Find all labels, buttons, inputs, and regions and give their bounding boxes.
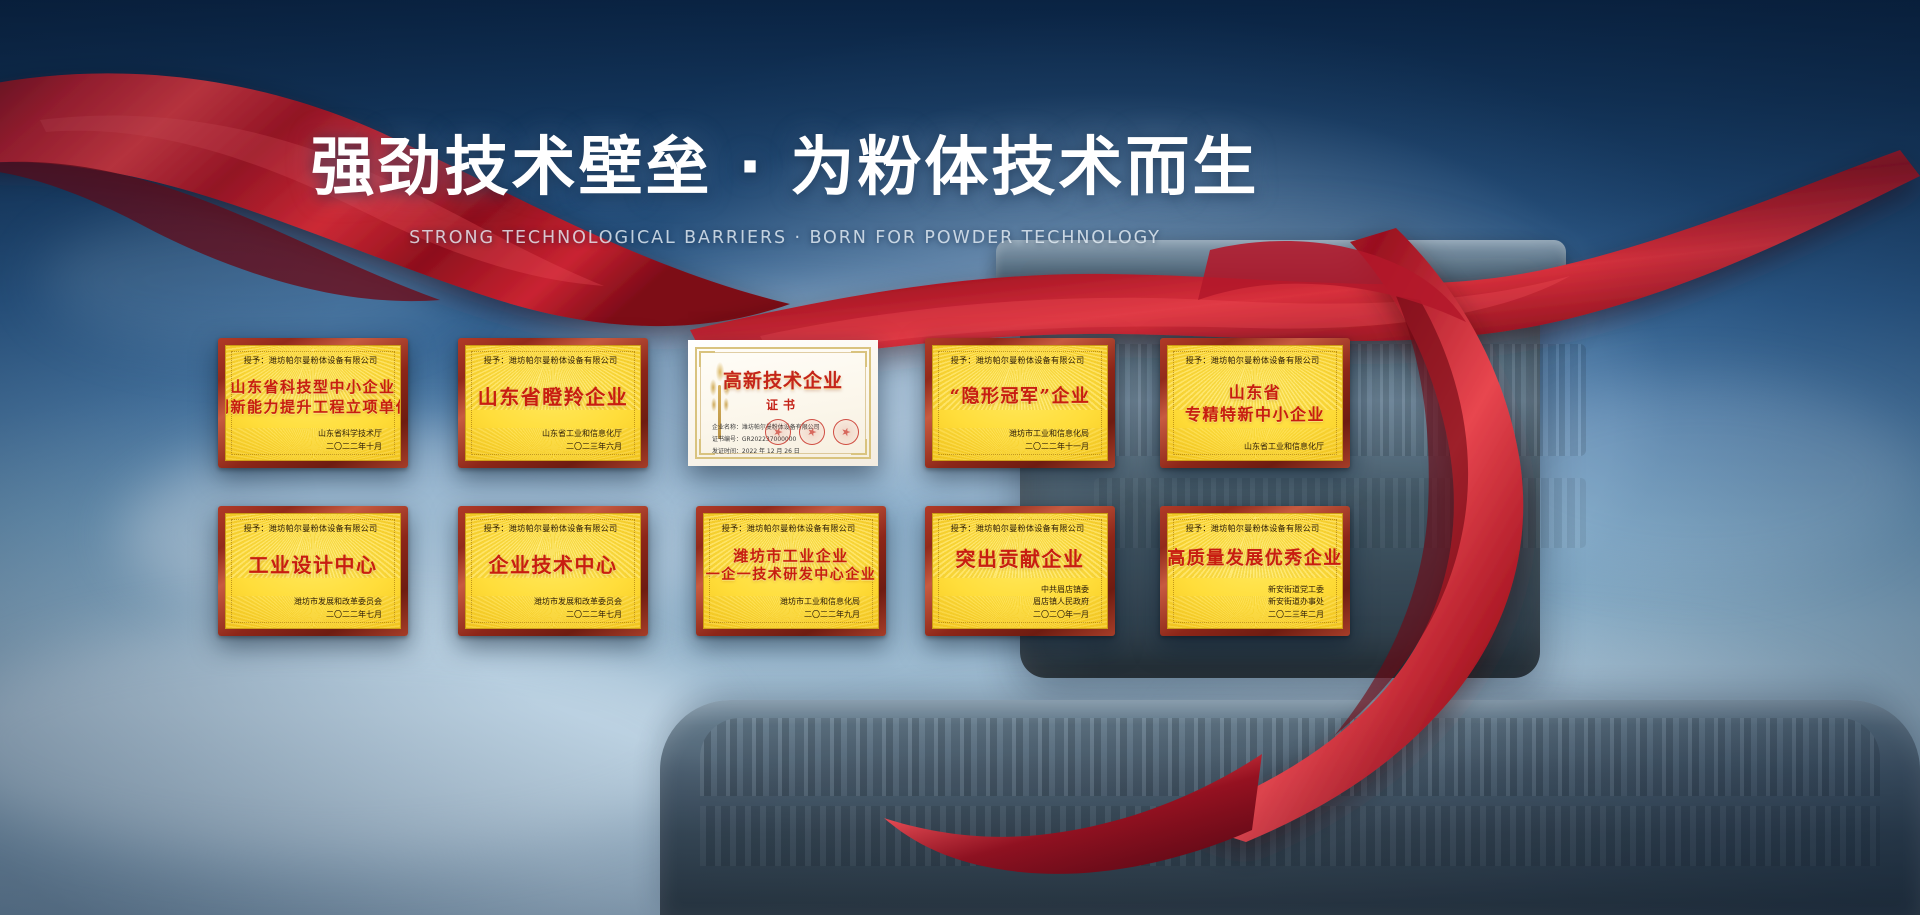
certificate-line: 发证时间：2022 年 12 月 26 日 — [712, 446, 848, 457]
plaque-title-wrap: “隐形冠军”企业 — [943, 366, 1097, 428]
plaque-title-line: 高质量发展优秀企业 — [1167, 548, 1343, 570]
plaque-title-wrap: 山东省 专精特新中小企业 — [1178, 366, 1332, 441]
plaque-title-wrap: 工业设计中心 — [236, 534, 390, 596]
plaque-date: 二〇二二年十一月 — [943, 441, 1089, 454]
high-tech-enterprise-certificate[interactable]: 高新技术企业 证书 企业名称：潍坊帕尔曼粉体设备有限公司 证书编号：GR2022… — [688, 340, 878, 466]
plaque-title-line: 山东省瞪羚企业 — [478, 385, 629, 409]
certificate-corner-icon — [851, 351, 867, 367]
plaque-zhuanjingtexin[interactable]: 授予：潍坊帕尔曼粉体设备有限公司 山东省 专精特新中小企业 山东省工业和信息化厅 — [1160, 338, 1350, 468]
plaque-award-to: 授予：潍坊帕尔曼粉体设备有限公司 — [476, 354, 624, 366]
page-subtitle: STRONG TECHNOLOGICAL BARRIERS · BORN FOR… — [0, 228, 1570, 248]
plaque-title-line: 潍坊市工业企业 — [733, 547, 849, 565]
official-seal-icon — [765, 419, 791, 445]
plaque-issuer: 中共眉店镇委 — [943, 584, 1089, 597]
plaque-yiqiyijishu[interactable]: 授予：潍坊帕尔曼粉体设备有限公司 潍坊市工业企业 一企一技术研发中心企业 潍坊市… — [696, 506, 886, 636]
plaque-award-to: 授予：潍坊帕尔曼粉体设备有限公司 — [714, 522, 862, 534]
plaque-title-wrap: 山东省科技型中小企业 创新能力提升工程立项单位 — [236, 366, 390, 428]
plaque-title-line: 山东省科技型中小企业 — [231, 378, 396, 396]
plaque-date: 二〇二二年七月 — [476, 609, 622, 622]
plaque-award-to: 授予：潍坊帕尔曼粉体设备有限公司 — [1178, 522, 1326, 534]
plaque-title-line: 企业技术中心 — [489, 553, 618, 577]
plaque-title-wrap: 山东省瞪羚企业 — [476, 366, 630, 428]
certificate-corner-icon — [699, 351, 715, 367]
plaque-denglin[interactable]: 授予：潍坊帕尔曼粉体设备有限公司 山东省瞪羚企业 山东省工业和信息化厅 二〇二三… — [458, 338, 648, 468]
plaque-title-line: 突出贡献企业 — [956, 547, 1085, 571]
official-seal-icon — [799, 419, 825, 445]
plaque-date: 二〇二二年九月 — [714, 609, 860, 622]
plaque-title-line: “隐形冠军”企业 — [950, 386, 1091, 408]
page-title: 强劲技术壁垒 · 为粉体技术而生 — [0, 132, 1570, 206]
plaque-title-wrap: 潍坊市工业企业 一企一技术研发中心企业 — [714, 534, 868, 596]
plaque-footer: 潍坊市工业和信息化局 二〇二二年十一月 — [943, 428, 1097, 454]
plaque-title-line: 专精特新中小企业 — [1185, 405, 1325, 425]
plaque-date: 二〇二三年二月 — [1178, 609, 1324, 622]
plaque-footer: 潍坊市发展和改革委员会 二〇二二年七月 — [476, 596, 630, 622]
plaque-issuer: 山东省科学技术厅 — [236, 428, 382, 441]
plaque-date: 二〇二〇年一月 — [943, 609, 1089, 622]
plaque-footer: 山东省工业和信息化厅 — [1178, 441, 1332, 454]
plaque-tuchugongxian[interactable]: 授予：潍坊帕尔曼粉体设备有限公司 突出贡献企业 中共眉店镇委 眉店镇人民政府 二… — [925, 506, 1115, 636]
plaque-kejixing[interactable]: 授予：潍坊帕尔曼粉体设备有限公司 山东省科技型中小企业 创新能力提升工程立项单位… — [218, 338, 408, 468]
certificate-subtitle: 证书 — [706, 396, 860, 413]
plaque-title-line: 工业设计中心 — [249, 553, 378, 577]
plaque-award-to: 授予：潍坊帕尔曼粉体设备有限公司 — [943, 354, 1091, 366]
plaque-date: 二〇二二年七月 — [236, 609, 382, 622]
plaque-title-wrap: 高质量发展优秀企业 — [1178, 534, 1332, 584]
plaque-qiyejishu[interactable]: 授予：潍坊帕尔曼粉体设备有限公司 企业技术中心 潍坊市发展和改革委员会 二〇二二… — [458, 506, 648, 636]
plaque-footer: 山东省科学技术厅 二〇二二年十月 — [236, 428, 390, 454]
plaque-award-to: 授予：潍坊帕尔曼粉体设备有限公司 — [236, 354, 384, 366]
plaque-gaozhiliang[interactable]: 授予：潍坊帕尔曼粉体设备有限公司 高质量发展优秀企业 新安街道党工委 新安街道办… — [1160, 506, 1350, 636]
plaque-issuer: 潍坊市发展和改革委员会 — [476, 596, 622, 609]
plaque-issuer: 新安街道办事处 — [1178, 596, 1324, 609]
banner-stage: 强劲技术壁垒 · 为粉体技术而生 STRONG TECHNOLOGICAL BA… — [0, 0, 1920, 915]
plaque-award-to: 授予：潍坊帕尔曼粉体设备有限公司 — [1178, 354, 1326, 366]
plaque-gongyesheji[interactable]: 授予：潍坊帕尔曼粉体设备有限公司 工业设计中心 潍坊市发展和改革委员会 二〇二二… — [218, 506, 408, 636]
plaque-award-to: 授予：潍坊帕尔曼粉体设备有限公司 — [943, 522, 1091, 534]
plaque-title-line: 创新能力提升工程立项单位 — [225, 398, 401, 416]
plaque-date: 二〇二二年十月 — [236, 441, 382, 454]
plaque-date: 二〇二三年六月 — [476, 441, 622, 454]
plaque-footer: 新安街道党工委 新安街道办事处 二〇二三年二月 — [1178, 584, 1332, 622]
plaque-footer: 潍坊市发展和改革委员会 二〇二二年七月 — [236, 596, 390, 622]
plaque-title-wrap: 企业技术中心 — [476, 534, 630, 596]
plaque-issuer: 潍坊市工业和信息化局 — [714, 596, 860, 609]
plaque-title-line: 山东省 — [1229, 383, 1282, 403]
certificate-line: 有效期：三年 — [712, 458, 848, 459]
plaque-title-line: 一企一技术研发中心企业 — [706, 567, 877, 584]
plaque-award-to: 授予：潍坊帕尔曼粉体设备有限公司 — [236, 522, 384, 534]
plaque-yinxingguanjun[interactable]: 授予：潍坊帕尔曼粉体设备有限公司 “隐形冠军”企业 潍坊市工业和信息化局 二〇二… — [925, 338, 1115, 468]
plaque-footer: 中共眉店镇委 眉店镇人民政府 二〇二〇年一月 — [943, 584, 1097, 622]
plaque-issuer: 山东省工业和信息化厅 — [476, 428, 622, 441]
plaque-issuer: 潍坊市工业和信息化局 — [943, 428, 1089, 441]
plaque-award-to: 授予：潍坊帕尔曼粉体设备有限公司 — [476, 522, 624, 534]
banner-title-block: 强劲技术壁垒 · 为粉体技术而生 STRONG TECHNOLOGICAL BA… — [0, 132, 1570, 248]
plaque-footer: 山东省工业和信息化厅 二〇二三年六月 — [476, 428, 630, 454]
plaque-footer: 潍坊市工业和信息化局 二〇二二年九月 — [714, 596, 868, 622]
certificate-seals — [765, 419, 859, 445]
official-seal-icon — [833, 419, 859, 445]
plaque-issuer: 眉店镇人民政府 — [943, 596, 1089, 609]
certificate-title: 高新技术企业 — [706, 366, 860, 393]
plaque-issuer: 新安街道党工委 — [1178, 584, 1324, 597]
plaque-issuer: 山东省工业和信息化厅 — [1178, 441, 1324, 454]
plaque-issuer: 潍坊市发展和改革委员会 — [236, 596, 382, 609]
plaque-title-wrap: 突出贡献企业 — [943, 534, 1097, 584]
